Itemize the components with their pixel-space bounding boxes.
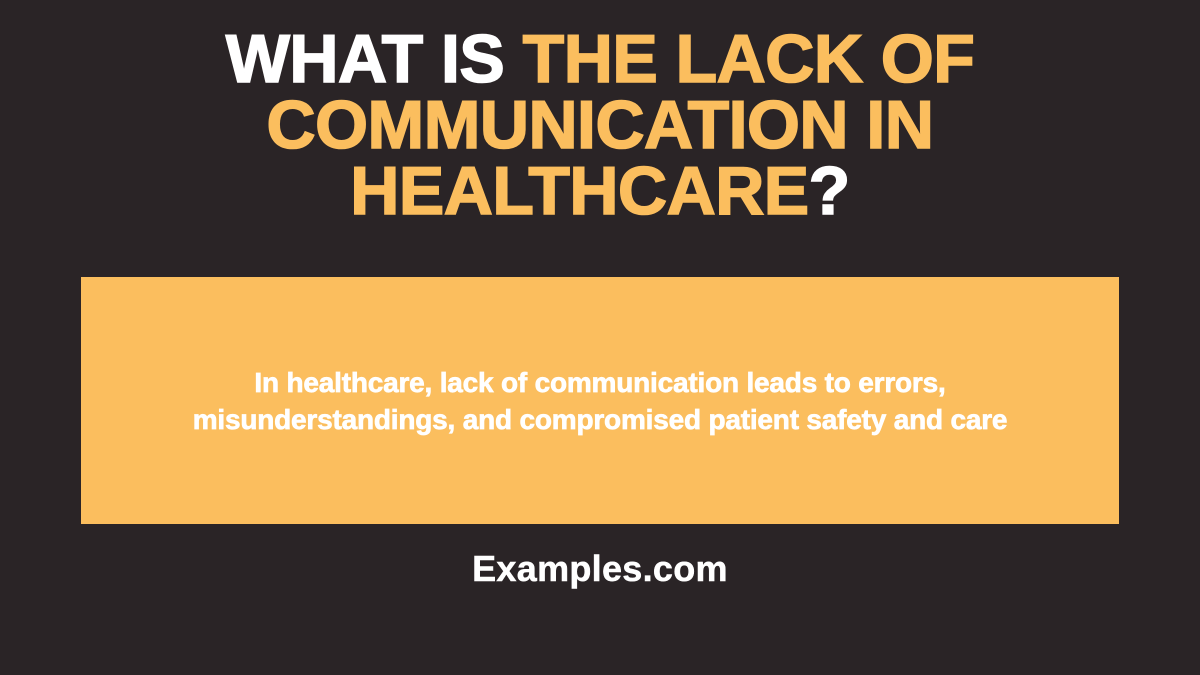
infographic-card: WHAT IS THE LACK OF COMMUNICATION IN HEA… [0, 0, 1200, 675]
page-title: WHAT IS THE LACK OF COMMUNICATION IN HEA… [0, 26, 1200, 224]
title-question-mark: ? [809, 153, 850, 229]
title-line-3: HEALTHCARE? [0, 158, 1200, 224]
brand-footer: Examples.com [0, 549, 1200, 589]
title-segment-accent: THE LACK OF [523, 21, 975, 97]
title-line-1: WHAT IS THE LACK OF [0, 26, 1200, 92]
title-line-2: COMMUNICATION IN [0, 92, 1200, 158]
answer-panel: In healthcare, lack of communication lea… [81, 277, 1119, 524]
title-segment-white: WHAT IS [226, 21, 523, 97]
title-segment-healthcare: HEALTHCARE [350, 153, 808, 229]
answer-text: In healthcare, lack of communication lea… [120, 364, 1080, 438]
